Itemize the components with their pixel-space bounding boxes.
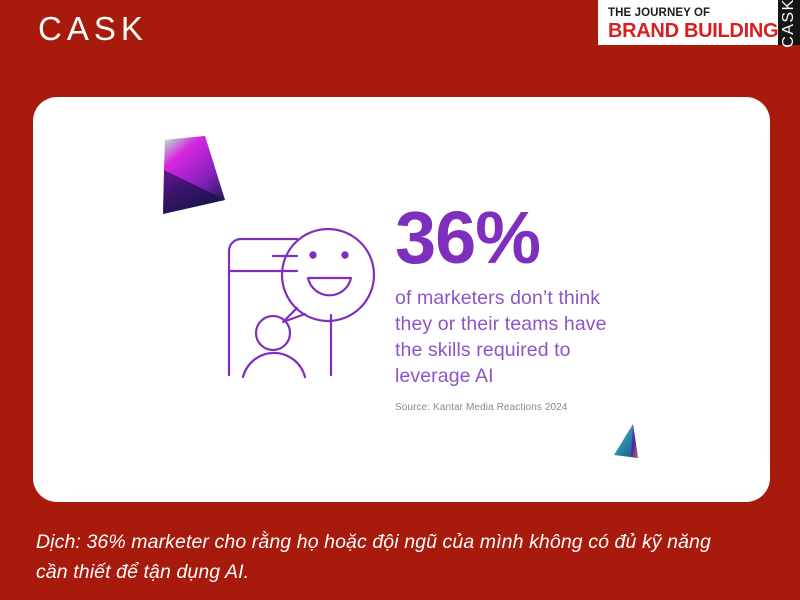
caption-line-2: cần thiết để tận dụng AI. (36, 557, 776, 587)
brand-wordmark: CASK (38, 9, 148, 49)
stat-block: 36% of marketers don’t think they or the… (395, 197, 735, 413)
gradient-arrow-mark-icon (159, 132, 227, 217)
slide-canvas: CASK THE JOURNEY OF BRAND BUILDING CASK (0, 0, 800, 600)
gradient-arrow-mark-small-icon (611, 422, 643, 462)
caption: Dịch: 36% marketer cho rằng họ hoặc đội … (36, 527, 776, 587)
campaign-logo: THE JOURNEY OF BRAND BUILDING CASK (598, 0, 800, 45)
campaign-logo-tagline: THE JOURNEY OF (608, 7, 778, 20)
person-phone-smiley-icon (211, 215, 386, 385)
stat-value: 36% (395, 197, 735, 279)
stat-description: of marketers don’t think they or their t… (395, 285, 620, 389)
campaign-logo-side-strip-label: CASK (780, 0, 798, 47)
campaign-logo-title: BRAND BUILDING (608, 20, 778, 42)
caption-line-1: Dịch: 36% marketer cho rằng họ hoặc đội … (36, 531, 711, 553)
campaign-logo-text: THE JOURNEY OF BRAND BUILDING (598, 0, 778, 45)
campaign-logo-side-strip: CASK (778, 0, 800, 45)
content-card: 36% of marketers don’t think they or the… (33, 97, 770, 502)
stat-source: Source: Kantar Media Reactions 2024 (395, 402, 735, 413)
